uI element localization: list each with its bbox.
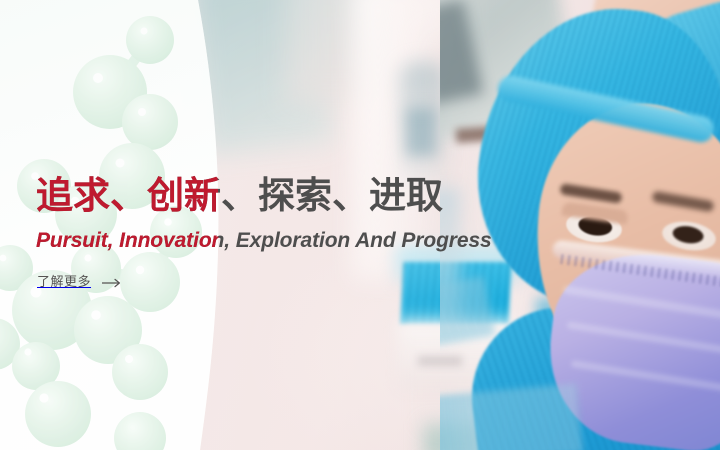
molecule-icon bbox=[0, 0, 240, 450]
lab-shelf bbox=[440, 276, 494, 356]
lab-bottle-label bbox=[406, 108, 436, 156]
lab-worker-figure bbox=[440, 0, 720, 450]
learn-more-link[interactable]: 了解更多 bbox=[37, 274, 122, 292]
hero-banner: 追求、创新、探索、进取 Pursuit, Innovation, Explora… bbox=[0, 0, 720, 450]
worker-gown-fold bbox=[440, 383, 583, 450]
learn-more-label: 了解更多 bbox=[37, 274, 91, 292]
arrow-right-icon bbox=[102, 278, 122, 288]
left-curved-panel bbox=[0, 0, 240, 450]
